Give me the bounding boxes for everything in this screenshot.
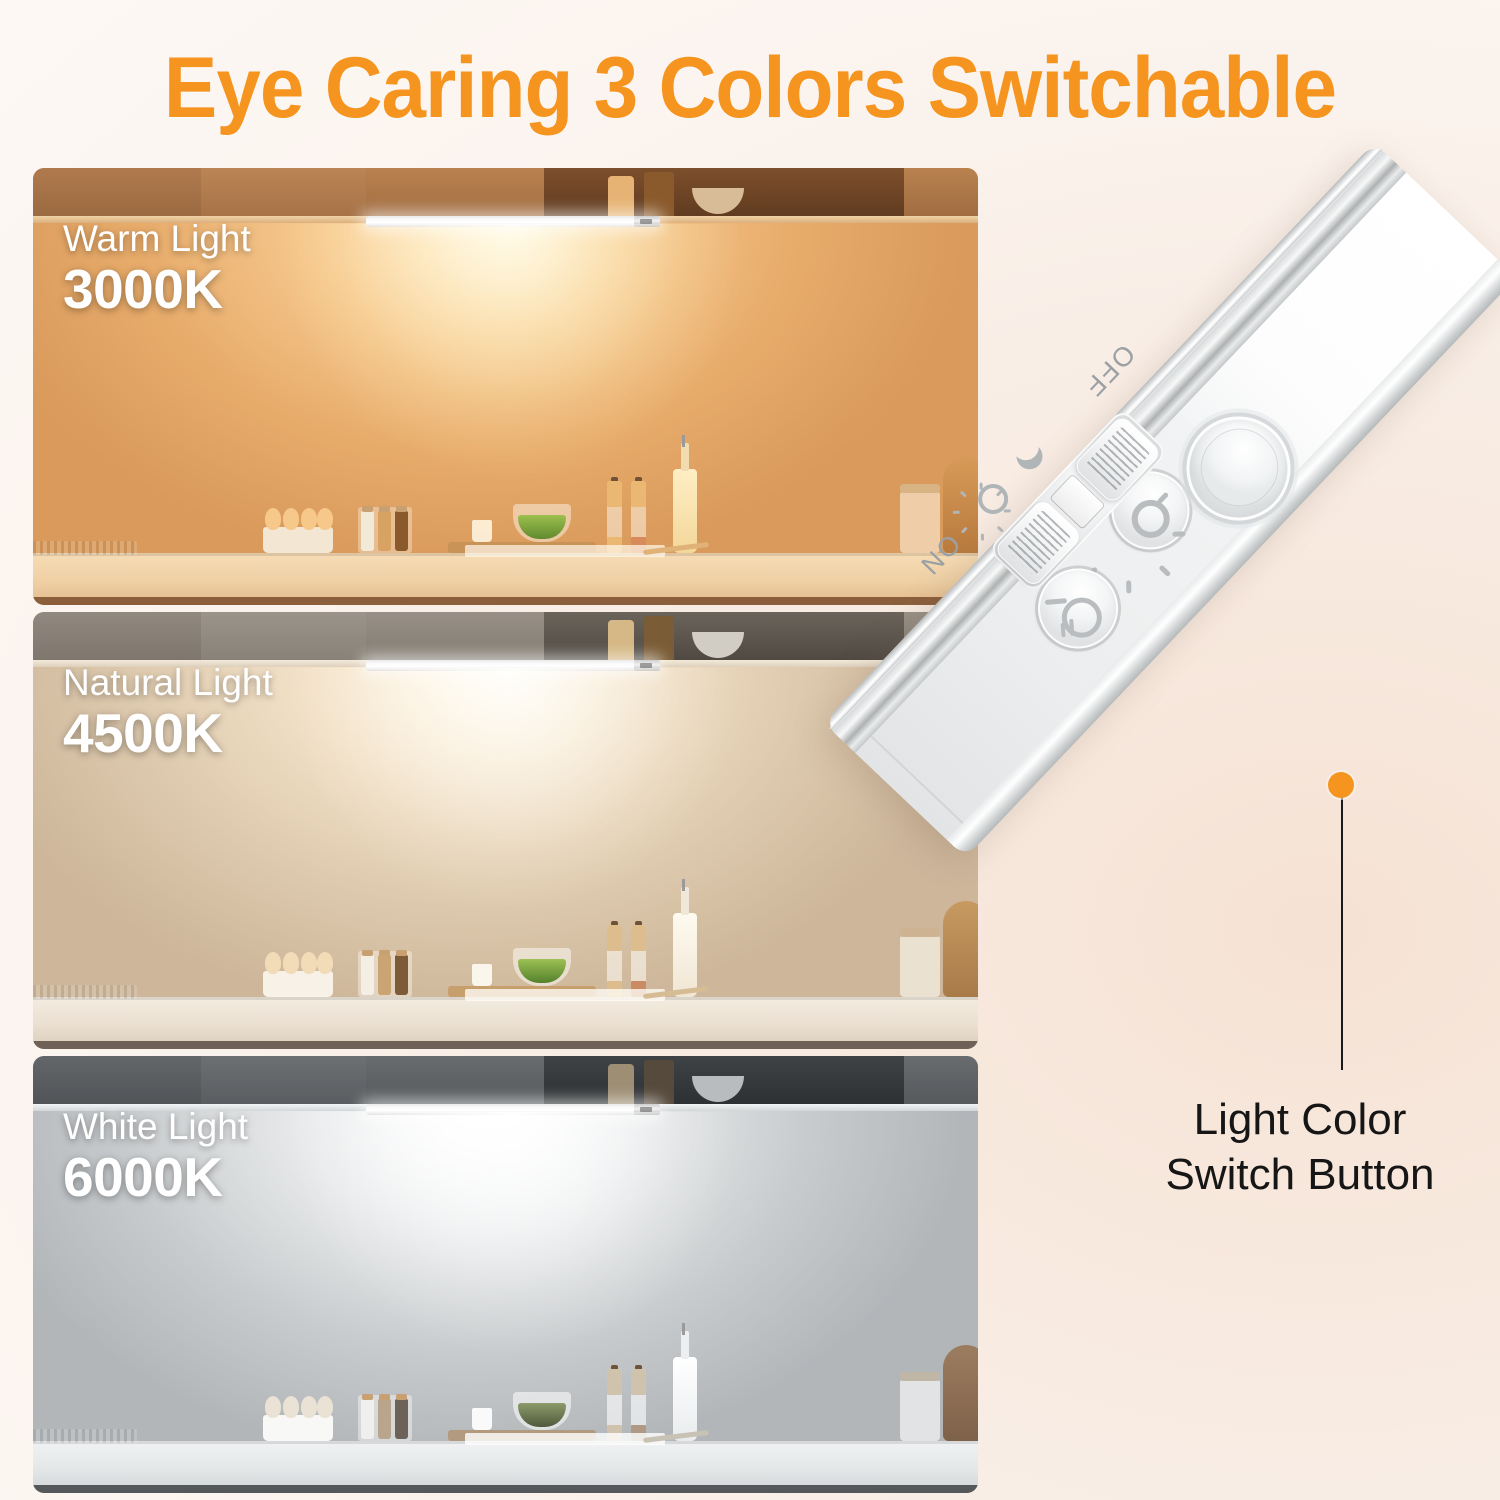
oil-bottle (673, 913, 697, 997)
pasta-jar (900, 935, 940, 997)
panel-sub-label: White Light (63, 1108, 248, 1147)
led-light-bar (366, 216, 658, 227)
glass (472, 1408, 492, 1430)
callout-label: Light Color Switch Button (1100, 1092, 1500, 1203)
panel-sub-label: Warm Light (63, 220, 251, 259)
led-light-bar (366, 660, 658, 671)
callout-dot (1328, 772, 1354, 798)
led-light-bar (366, 1104, 658, 1115)
egg-tray (263, 527, 333, 553)
pepper-grinder (607, 481, 622, 553)
spice-jars (358, 951, 412, 997)
panel-warm-light: Warm Light 3000K (33, 168, 978, 605)
countertop (33, 1441, 978, 1493)
lighting-comparison-panels: Warm Light 3000K (33, 168, 978, 1493)
salt-grinder (631, 925, 646, 997)
pepper-grinder (607, 925, 622, 997)
panel-caption-warm: Warm Light 3000K (63, 220, 251, 320)
spice-jars (358, 1395, 412, 1441)
pepper-grinder (607, 1369, 622, 1441)
panel-caption-white: White Light 6000K (63, 1108, 248, 1208)
glass (472, 964, 492, 986)
upper-cabinets (33, 1056, 978, 1108)
countertop (33, 997, 978, 1049)
callout-leader-line (1341, 795, 1343, 1070)
countertop (33, 553, 978, 605)
panel-kelvin-label: 4500K (63, 703, 273, 765)
upper-cabinets (33, 168, 978, 220)
moon-icon (1007, 429, 1044, 466)
product-marketing-image: Eye Caring 3 Colors Switchable (0, 0, 1500, 1500)
panel-natural-light: Natural Light 4500K (33, 612, 978, 1049)
oil-bottle (673, 1357, 697, 1441)
spice-jars (358, 507, 412, 553)
callout-line-2: Switch Button (1100, 1147, 1500, 1202)
wood-board (943, 1345, 978, 1441)
glass (472, 520, 492, 542)
egg-tray (263, 1415, 333, 1441)
pasta-jar (900, 1379, 940, 1441)
wood-board (943, 901, 978, 997)
panel-sub-label: Natural Light (63, 664, 273, 703)
egg-tray (263, 971, 333, 997)
panel-kelvin-label: 3000K (63, 259, 251, 321)
panel-caption-natural: Natural Light 4500K (63, 664, 273, 764)
salt-grinder (631, 481, 646, 553)
upper-cabinets (33, 612, 978, 664)
product-photo: OFF ON (980, 140, 1500, 1140)
panel-kelvin-label: 6000K (63, 1147, 248, 1209)
callout-line-1: Light Color (1100, 1092, 1500, 1147)
panel-white-light: White Light 6000K (33, 1056, 978, 1493)
slider-label-off: OFF (1077, 338, 1141, 403)
salt-grinder (631, 1369, 646, 1441)
page-title: Eye Caring 3 Colors Switchable (53, 45, 1448, 131)
oil-bottle (673, 469, 697, 553)
